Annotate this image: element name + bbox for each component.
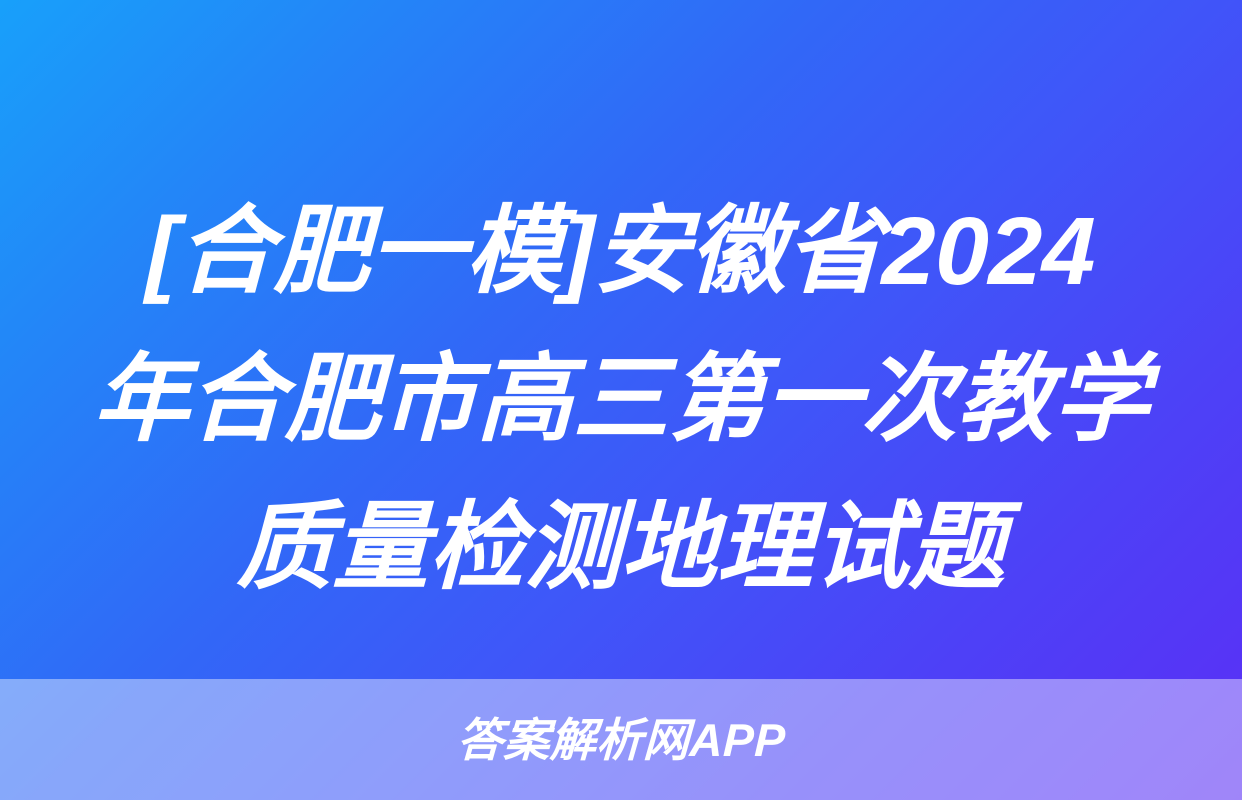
title-line-3: 质量检测地理试题 <box>236 474 1007 622</box>
title-line-1: [合肥一模]安徽省2024 <box>145 178 1097 326</box>
exam-title-card: [合肥一模]安徽省2024 年合肥市高三第一次教学 质量检测地理试题 答案解析网… <box>0 0 1242 800</box>
watermark-brand-label: 答案解析网APP <box>456 717 786 763</box>
watermark-banner: 答案解析网APP <box>0 679 1242 800</box>
title-line-2: 年合肥市高三第一次教学 <box>92 326 1151 474</box>
page-title: [合肥一模]安徽省2024 年合肥市高三第一次教学 质量检测地理试题 <box>0 178 1242 622</box>
